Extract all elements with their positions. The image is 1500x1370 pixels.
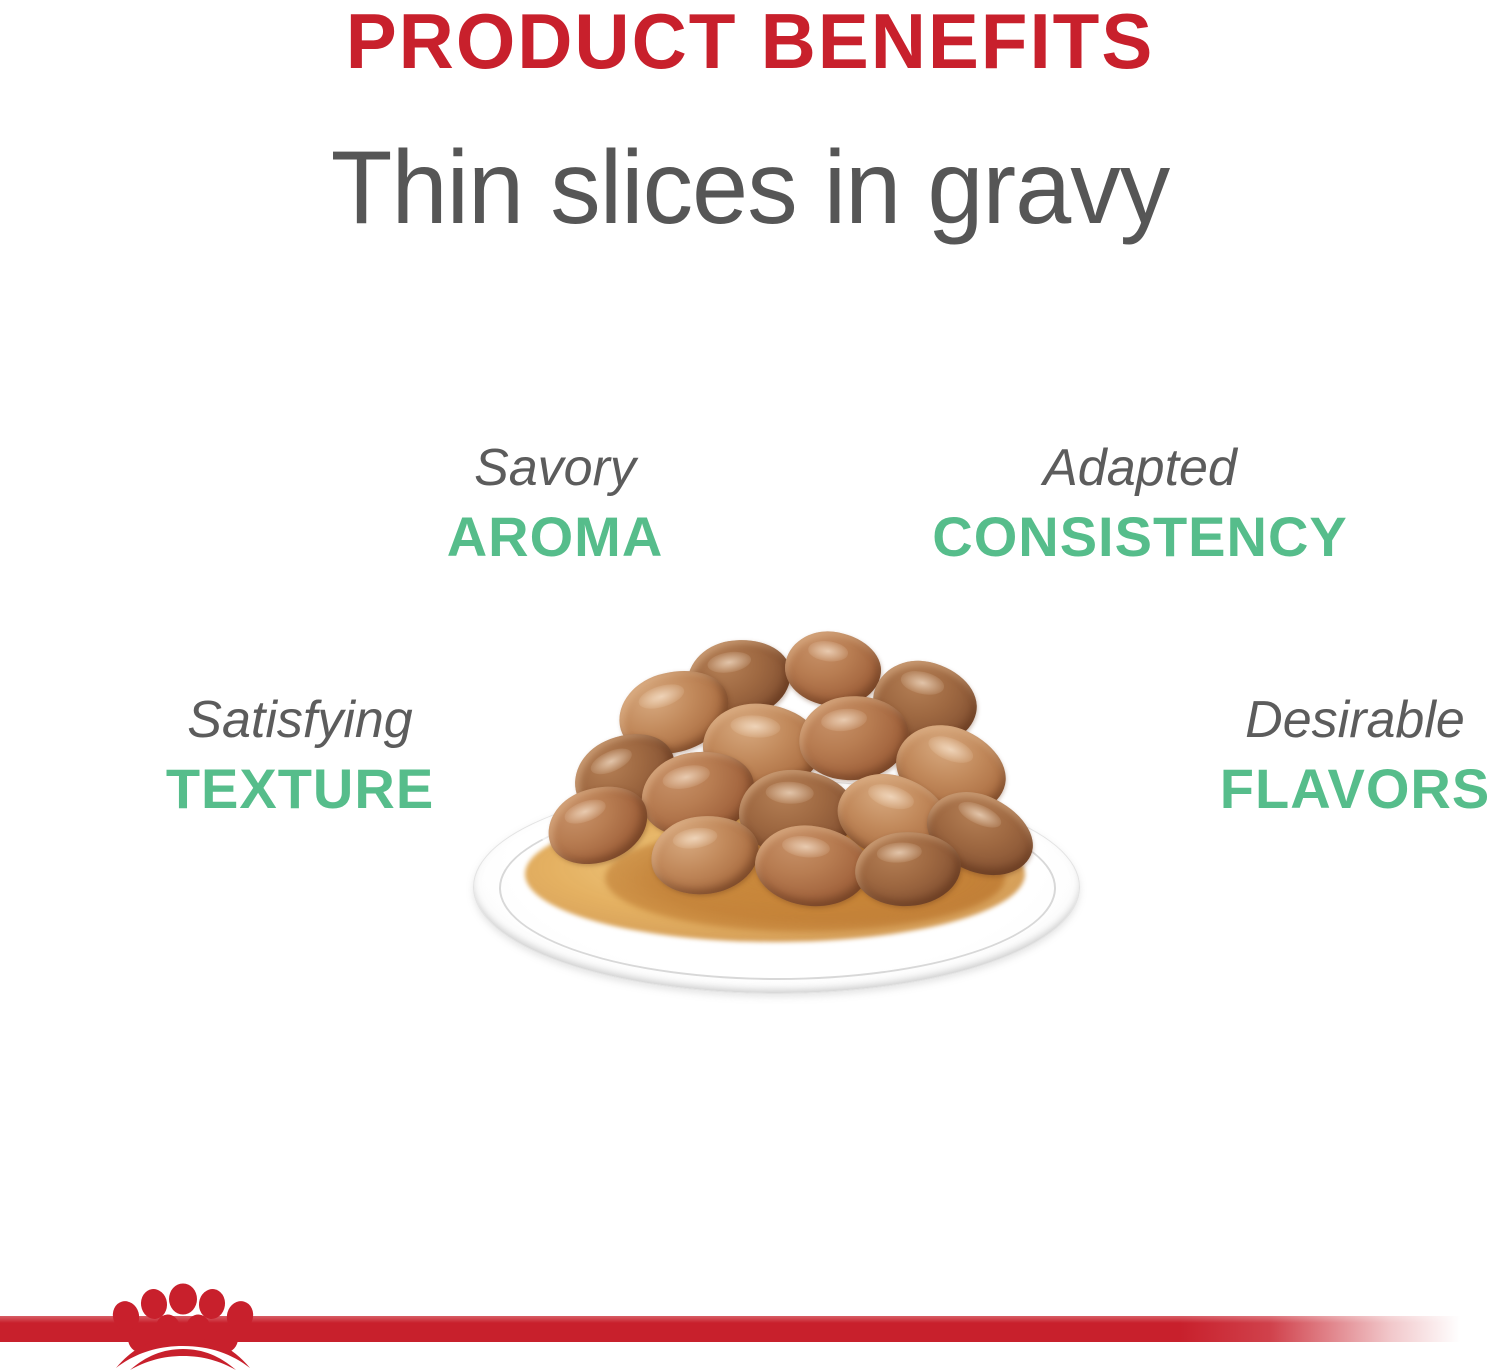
- benefit-item-consistency: Adapted CONSISTENCY: [880, 440, 1400, 570]
- chunk-gloss: [877, 841, 923, 863]
- benefit-adjective: Adapted: [880, 440, 1400, 497]
- chunk-gloss: [562, 795, 609, 828]
- chunk-gloss: [636, 680, 687, 714]
- benefit-adjective: Desirable: [1095, 692, 1500, 749]
- chunk-gloss: [765, 781, 814, 805]
- chunk-gloss: [955, 796, 1005, 833]
- benefit-noun: CONSISTENCY: [880, 497, 1400, 569]
- chunk-gloss: [898, 668, 945, 699]
- page-subtitle: Thin slices in gravy: [23, 82, 1478, 243]
- chunk-gloss: [730, 714, 781, 740]
- chunk-gloss: [865, 780, 916, 813]
- chunk-gloss: [781, 834, 831, 860]
- chunk-gloss: [671, 825, 719, 851]
- benefit-noun: AROMA: [295, 497, 815, 569]
- chunk-gloss: [925, 731, 977, 768]
- benefit-item-aroma: Savory AROMA: [295, 440, 815, 570]
- chunk-gloss: [587, 743, 635, 779]
- product-benefits-page: PRODUCT BENEFITS Thin slices in gravy Sa…: [0, 0, 1500, 1370]
- benefit-noun: FLAVORS: [1095, 749, 1500, 821]
- chunk-gloss: [706, 649, 752, 676]
- header: PRODUCT BENEFITS Thin slices in gravy: [0, 0, 1500, 243]
- chunk-gloss: [660, 761, 711, 792]
- benefit-adjective: Savory: [295, 440, 815, 497]
- page-title: PRODUCT BENEFITS: [15, 0, 1485, 82]
- chunk-gloss: [807, 639, 849, 663]
- product-food-image: [455, 610, 1095, 1000]
- royal-canin-crown-logo: [104, 1282, 262, 1370]
- chunk-gloss: [820, 706, 868, 733]
- benefit-item-flavors: Desirable FLAVORS: [1095, 692, 1500, 822]
